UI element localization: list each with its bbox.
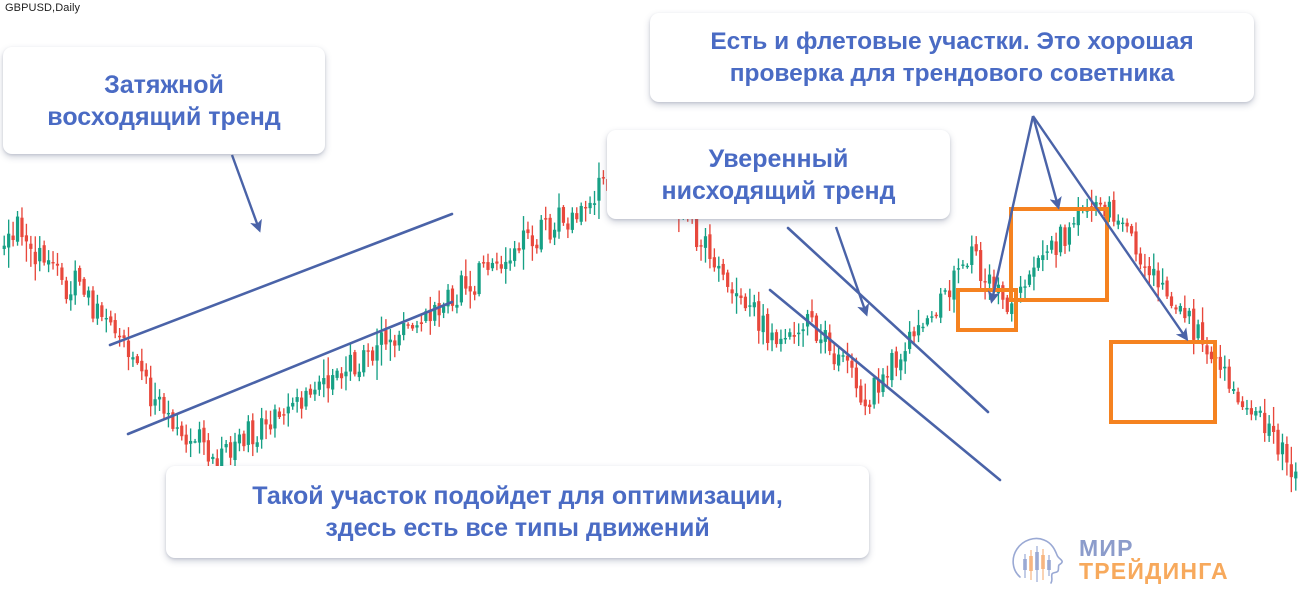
callout-downtrend-line-2: нисходящий тренд <box>662 177 896 205</box>
callout-flat-line-2: проверка для трендового советника <box>730 60 1175 87</box>
head-with-candlesticks-icon <box>1008 530 1070 590</box>
callout-uptrend: Затяжной восходящий тренд <box>3 47 325 154</box>
callout-optimization: Такой участок подойдет для оптимизации, … <box>166 466 869 558</box>
logo-line-1: МИР <box>1079 537 1229 560</box>
chart-screenshot: GBPUSD,Daily Затяжной восходящий тренд Е… <box>0 0 1300 600</box>
brand-logo: МИР ТРЕЙДИНГА <box>1008 528 1208 592</box>
callout-uptrend-line-1: Затяжной <box>104 71 224 99</box>
flat-zone-boxes <box>958 209 1215 422</box>
callout-downtrend-line-1: Уверенный <box>709 145 849 173</box>
callout-uptrend-line-2: восходящий тренд <box>47 103 280 131</box>
callout-downtrend: Уверенный нисходящий тренд <box>607 130 950 219</box>
callout-flat-zones: Есть и флетовые участки. Это хорошая про… <box>650 13 1254 102</box>
callout-flat-line-1: Есть и флетовые участки. Это хорошая <box>710 28 1193 55</box>
logo-line-2: ТРЕЙДИНГА <box>1079 560 1229 583</box>
callout-optimize-line-1: Такой участок подойдет для оптимизации, <box>252 482 783 510</box>
callout-optimize-line-2: здесь есть все типы движений <box>325 514 709 542</box>
